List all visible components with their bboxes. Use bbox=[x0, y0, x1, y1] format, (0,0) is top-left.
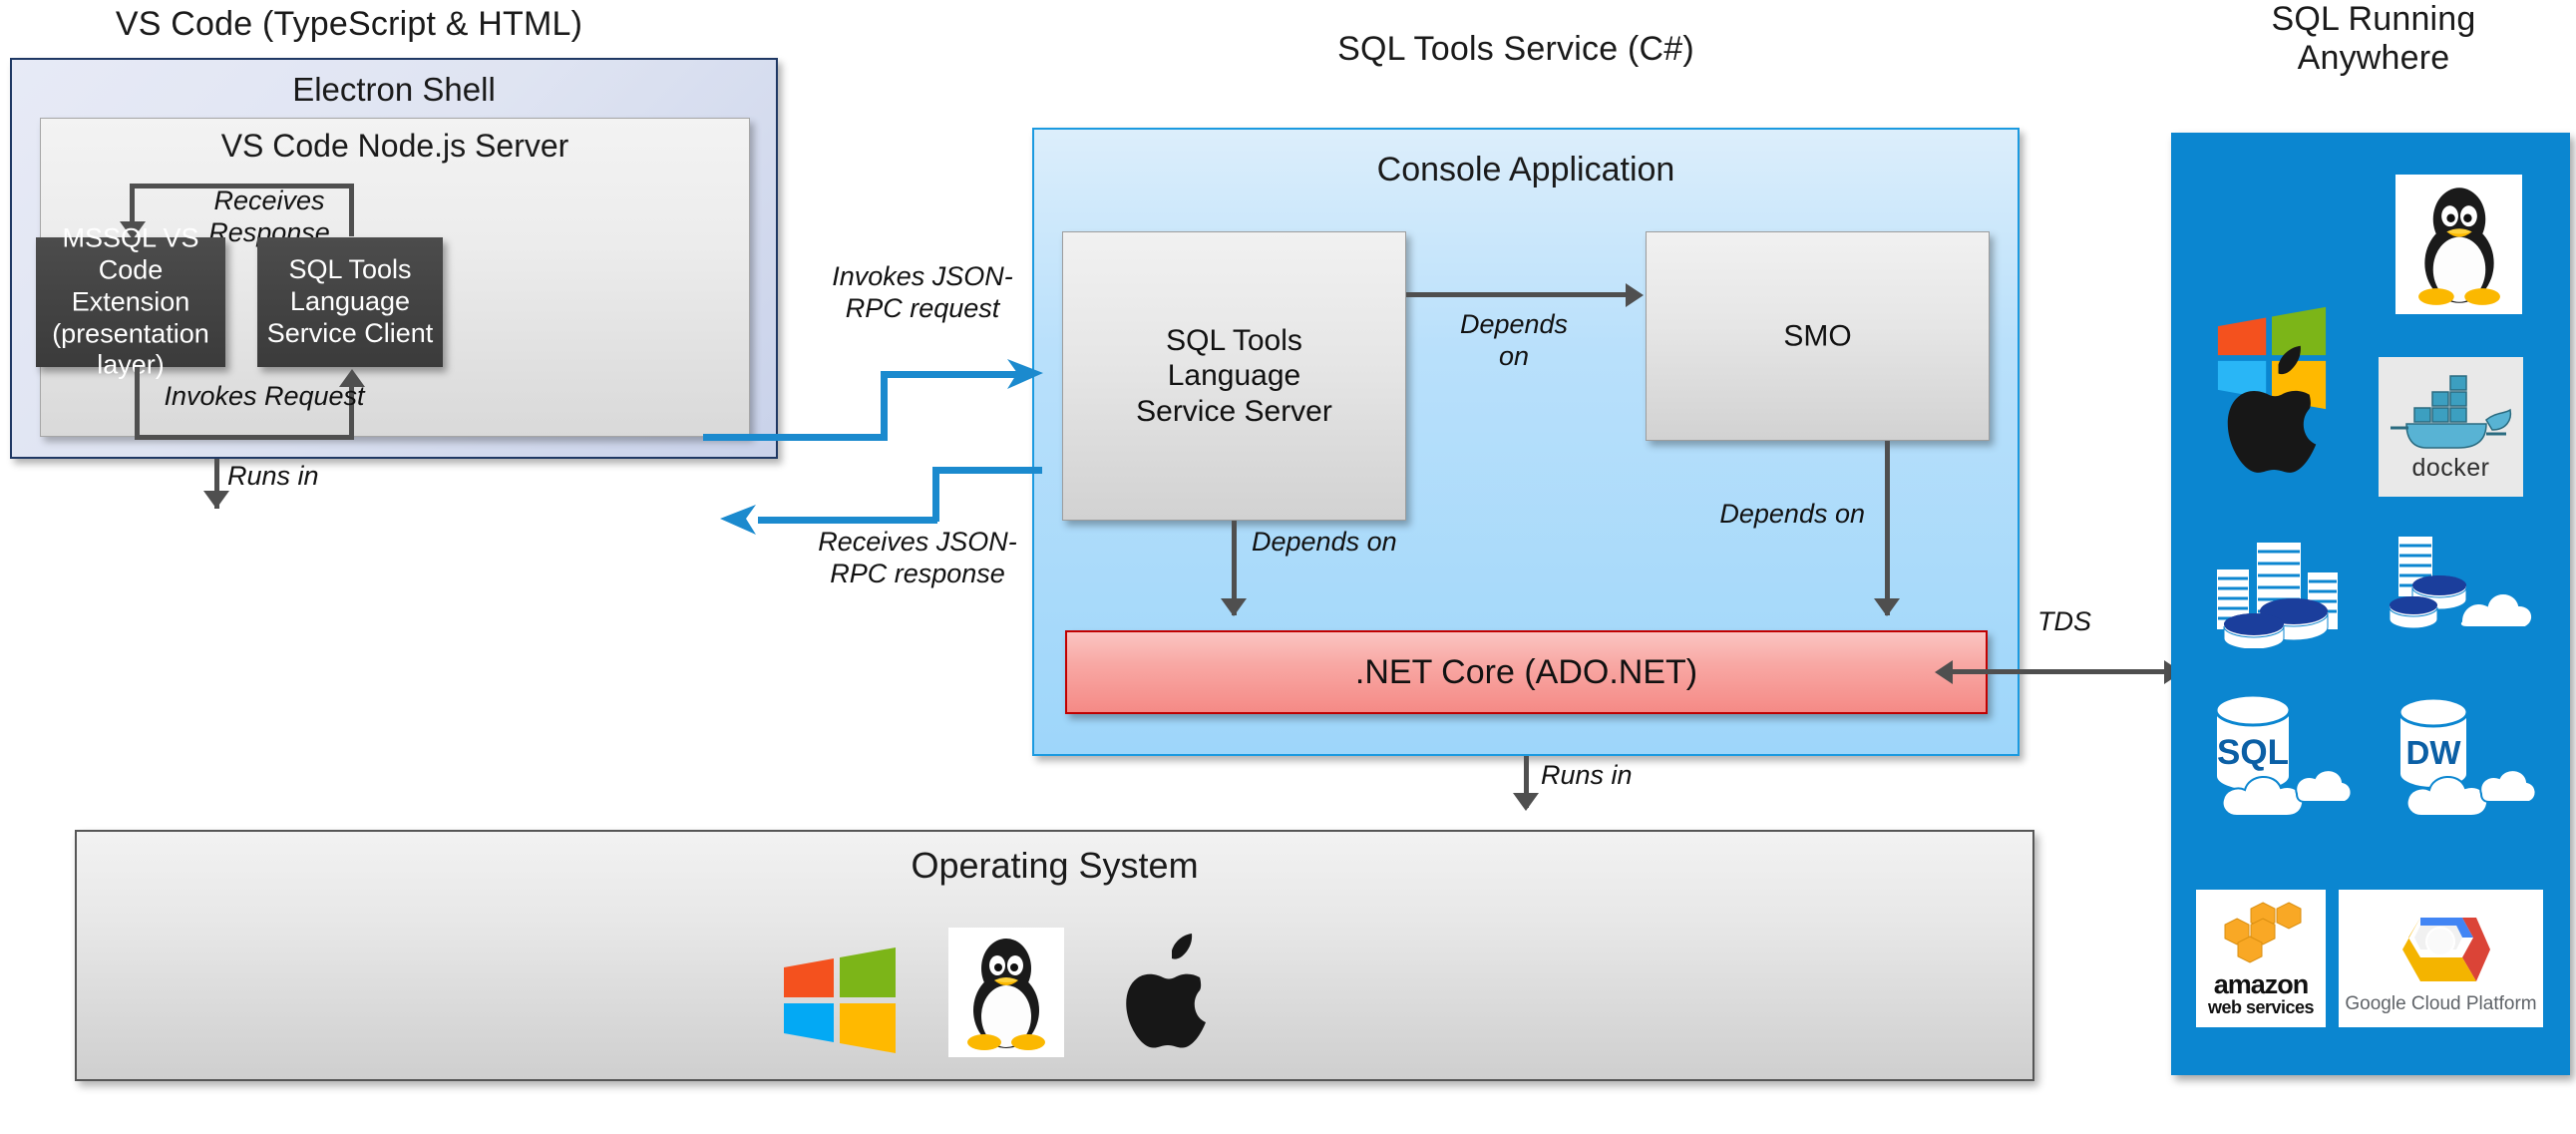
invokes-request-h bbox=[135, 435, 354, 440]
mssql-vscode-extension-label: MSSQL VS Code Extension (presentation la… bbox=[36, 222, 225, 381]
rpc-request-h-lower bbox=[703, 434, 888, 441]
depends-on-netcore-left-arrowhead bbox=[1221, 598, 1247, 616]
tds-label: TDS bbox=[1985, 606, 2144, 638]
rpc-request-arrowhead bbox=[1007, 353, 1053, 395]
console-application-title: Console Application bbox=[1034, 150, 2018, 190]
sql-anywhere-docker-logo: docker bbox=[2379, 357, 2523, 497]
caption-sql-tools-service: SQL Tools Service (C#) bbox=[1017, 30, 2015, 69]
depends-on-netcore-right-line bbox=[1885, 441, 1890, 615]
apple-logo bbox=[1112, 933, 1222, 1057]
sql-anywhere-linux-tux-logo bbox=[2395, 175, 2522, 314]
rpc-request-v bbox=[881, 371, 888, 441]
vscode-runs-in-arrowhead bbox=[203, 491, 229, 509]
windows-logo bbox=[782, 945, 898, 1055]
amazon-wordmark: amazon bbox=[2214, 971, 2309, 998]
architecture-diagram: VS Code (TypeScript & HTML) SQL Tools Se… bbox=[0, 0, 2576, 1134]
dw-cylinder-label: DW bbox=[2406, 734, 2462, 771]
dotnet-core-label: .NET Core (ADO.NET) bbox=[1067, 652, 1986, 692]
depends-on-smo-arrowhead bbox=[1626, 283, 1644, 307]
caption-sql-running-anywhere: SQL Running Anywhere bbox=[2174, 0, 2573, 78]
electron-shell-title: Electron Shell bbox=[12, 70, 776, 110]
sql-tools-language-service-client-label: SQL Tools Language Service Client bbox=[257, 254, 443, 350]
rpc-response-v bbox=[932, 467, 939, 522]
depends-on-netcore-left-label: Depends on bbox=[1252, 527, 1501, 559]
dotnet-core-box: .NET Core (ADO.NET) bbox=[1065, 630, 1988, 714]
gcp-wordmark: Google Cloud Platform bbox=[2345, 993, 2536, 1015]
vscode-runs-in-label: Runs in bbox=[227, 461, 387, 493]
depends-on-netcore-right-arrowhead bbox=[1874, 598, 1900, 616]
console-runs-in-arrowhead bbox=[1513, 793, 1539, 811]
vscode-nodejs-server-title: VS Code Node.js Server bbox=[41, 127, 749, 165]
sql-anywhere-sql-database-cloud-icon: SQL bbox=[2201, 688, 2376, 823]
rpc-response-h-lower bbox=[758, 517, 937, 524]
web-services-wordmark: web services bbox=[2208, 998, 2314, 1016]
docker-wordmark: docker bbox=[2411, 454, 2489, 483]
tds-arrowhead-left bbox=[1935, 660, 1953, 684]
sql-anywhere-datacenter-cloud-icon bbox=[2206, 524, 2356, 648]
sql-anywhere-dw-database-cloud-icon: DW bbox=[2382, 688, 2561, 823]
sql-anywhere-amazon-web-services-logo: amazon web services bbox=[2196, 890, 2326, 1027]
depends-on-smo-label: Depends on bbox=[1419, 309, 1609, 373]
depends-on-netcore-right-label: Depends on bbox=[1616, 499, 1865, 531]
sql-tools-language-service-server-box: SQL Tools Language Service Server bbox=[1062, 231, 1406, 521]
sql-anywhere-apple-logo bbox=[2212, 344, 2334, 484]
rpc-request-label: Invokes JSON- RPC request bbox=[798, 261, 1047, 325]
smo-label: SMO bbox=[1647, 318, 1989, 353]
mssql-vscode-extension-box: MSSQL VS Code Extension (presentation la… bbox=[36, 237, 225, 367]
invokes-request-label: Invokes Request bbox=[150, 381, 379, 413]
invokes-request-v-left bbox=[135, 367, 140, 440]
sql-tools-language-service-server-label: SQL Tools Language Service Server bbox=[1063, 323, 1405, 429]
caption-vscode: VS Code (TypeScript & HTML) bbox=[0, 5, 698, 44]
tds-line bbox=[1950, 669, 2169, 674]
rpc-response-arrowhead bbox=[710, 499, 758, 541]
linux-tux-logo bbox=[948, 928, 1064, 1057]
smo-box: SMO bbox=[1646, 231, 1990, 441]
rpc-response-label: Receives JSON- RPC response bbox=[788, 527, 1047, 590]
sql-anywhere-server-cloud-icon bbox=[2384, 524, 2543, 648]
operating-system-title: Operating System bbox=[77, 844, 2032, 887]
depends-on-smo-line bbox=[1406, 292, 1628, 297]
sql-cylinder-label: SQL bbox=[2217, 733, 2289, 772]
sql-anywhere-google-cloud-platform-logo: Google Cloud Platform bbox=[2339, 890, 2543, 1027]
sql-tools-language-service-client-box: SQL Tools Language Service Client bbox=[257, 237, 443, 367]
rpc-response-h-upper bbox=[932, 467, 1042, 474]
console-runs-in-label: Runs in bbox=[1541, 760, 1700, 792]
